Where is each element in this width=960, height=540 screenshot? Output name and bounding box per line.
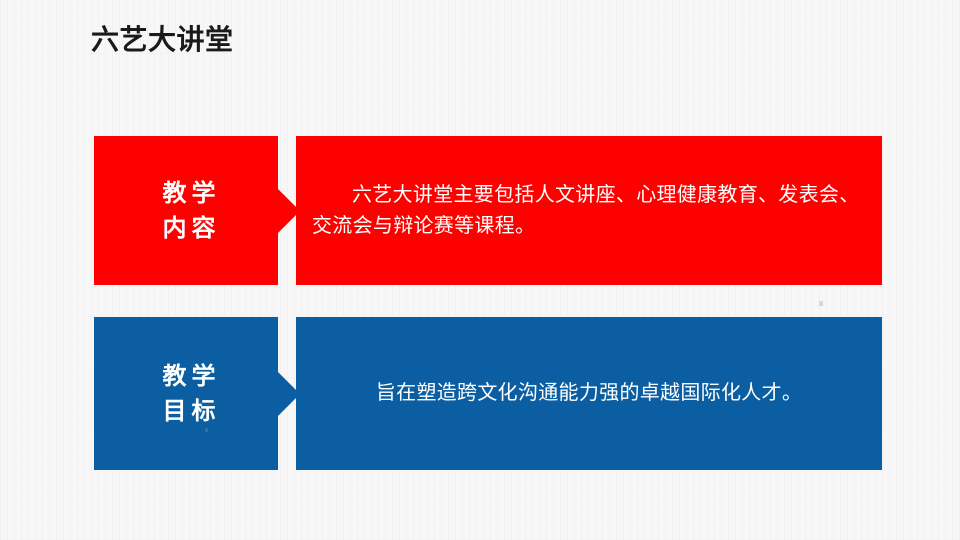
teaching-goal-body-block[interactable]: 旨在塑造跨文化沟通能力强的卓越国际化人才。 [296, 317, 882, 470]
teaching-content-body-text: 六艺大讲堂主要包括人文讲座、心理健康教育、发表会、交流会与辩论赛等课程。 [312, 180, 866, 242]
page-title: 六艺大讲堂 [91, 21, 234, 59]
background-speck [819, 301, 823, 306]
slide-canvas: 六艺大讲堂 教学 内容 六艺大讲堂主要包括人文讲座、心理健康教育、发表会、交流会… [0, 0, 960, 540]
teaching-content-label-block[interactable]: 教学 内容 [94, 136, 284, 285]
label-line-1: 教学 [97, 176, 281, 211]
teaching-content-label-text: 教学 内容 [97, 176, 281, 246]
label-line-2: 目标 [97, 394, 281, 429]
teaching-content-row: 教学 内容 六艺大讲堂主要包括人文讲座、心理健康教育、发表会、交流会与辩论赛等课… [94, 136, 882, 285]
label-line-1: 教学 [97, 359, 281, 394]
teaching-goal-label-text: 教学 目标 [97, 359, 281, 429]
teaching-goal-row: 教学 目标 旨在塑造跨文化沟通能力强的卓越国际化人才。 [94, 317, 882, 470]
label-line-2: 内容 [97, 211, 281, 246]
teaching-content-body-block[interactable]: 六艺大讲堂主要包括人文讲座、心理健康教育、发表会、交流会与辩论赛等课程。 [296, 136, 882, 285]
teaching-goal-body-text: 旨在塑造跨文化沟通能力强的卓越国际化人才。 [312, 378, 866, 409]
background-speck [205, 428, 208, 432]
teaching-goal-label-block[interactable]: 教学 目标 [94, 317, 284, 470]
